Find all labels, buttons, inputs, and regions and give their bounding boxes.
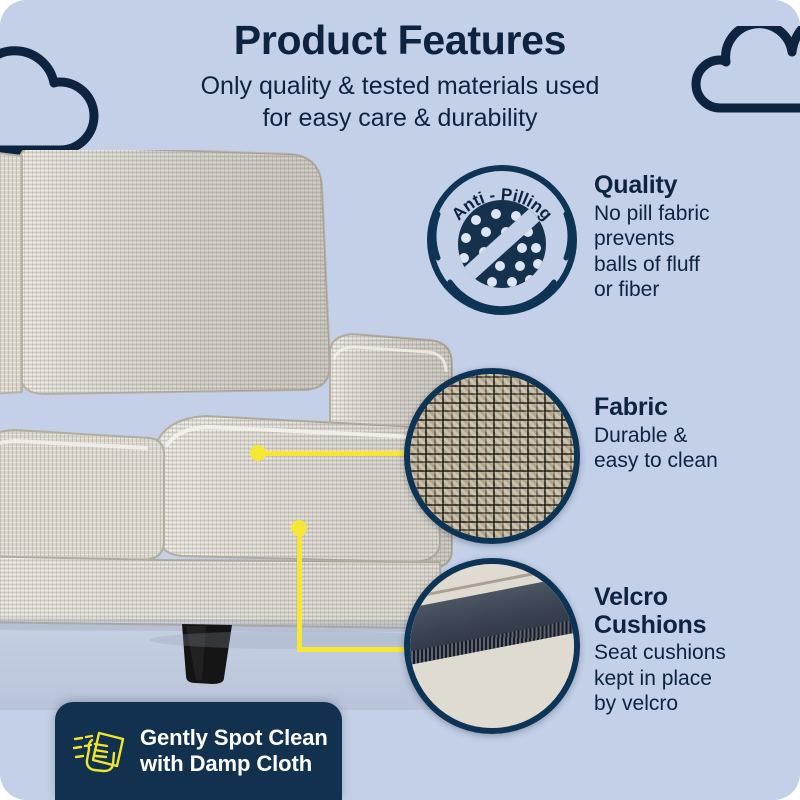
- fabric-weave-closeup: [404, 368, 580, 544]
- subtitle-line-2: for easy care & durability: [262, 104, 537, 132]
- leader-line-velcro-horizontal: [297, 647, 415, 652]
- hand-wiping-cloth-icon: [73, 726, 127, 776]
- subtitle-line-1: Only quality & tested materials used: [201, 72, 600, 100]
- feature-fabric-line-1: Durable &: [594, 424, 687, 447]
- feature-velcro-heading-line-2: Cushions: [594, 611, 706, 639]
- anti-pilling-badge: Anti - Pilling: [424, 162, 580, 318]
- feature-quality: Quality No pill fabric prevents balls of…: [594, 172, 800, 303]
- banner-line-2: with Damp Cloth: [140, 751, 312, 776]
- leader-dot-fabric: [250, 445, 266, 461]
- feature-quality-line-2: prevents: [594, 227, 675, 250]
- feature-velcro-line-1: Seat cushions: [594, 641, 726, 664]
- feature-quality-line-3: balls of fluff: [594, 253, 700, 276]
- feature-fabric-line-2: easy to clean: [594, 449, 718, 472]
- leader-line-velcro-vertical: [297, 530, 302, 652]
- leader-line-fabric: [258, 451, 414, 456]
- product-features-poster: Product Features Only quality & tested m…: [0, 0, 800, 800]
- weave-texture: [410, 374, 574, 538]
- spot-clean-banner: Gently Spot Clean with Damp Cloth: [55, 702, 342, 800]
- header-block: Product Features Only quality & tested m…: [0, 18, 800, 134]
- velcro-strip-closeup: [404, 558, 580, 734]
- banner-text: Gently Spot Clean with Damp Cloth: [140, 725, 328, 776]
- feature-velcro-heading-line-1: Velcro: [594, 583, 668, 611]
- product-image-sofa: [0, 150, 470, 710]
- feature-velcro-line-3: by velcro: [594, 692, 678, 715]
- feature-velcro: Velcro Cushions Seat cushions kept in pl…: [594, 584, 800, 717]
- feature-fabric-heading: Fabric: [594, 394, 800, 422]
- page-subtitle: Only quality & tested materials used for…: [130, 70, 670, 134]
- banner-line-1: Gently Spot Clean: [140, 725, 328, 750]
- feature-velcro-line-2: kept in place: [594, 667, 712, 690]
- feature-quality-line-1: No pill fabric: [594, 202, 710, 225]
- feature-quality-heading: Quality: [594, 172, 800, 200]
- page-title: Product Features: [0, 18, 800, 62]
- feature-fabric: Fabric Durable & easy to clean: [594, 394, 800, 474]
- feature-fabric-body: Durable & easy to clean: [594, 423, 800, 474]
- feature-quality-line-4: or fiber: [594, 278, 659, 301]
- feature-velcro-body: Seat cushions kept in place by velcro: [594, 640, 800, 717]
- leader-dot-velcro: [291, 520, 307, 536]
- feature-quality-body: No pill fabric prevents balls of fluff o…: [594, 201, 800, 303]
- feature-velcro-heading: Velcro Cushions: [594, 584, 800, 639]
